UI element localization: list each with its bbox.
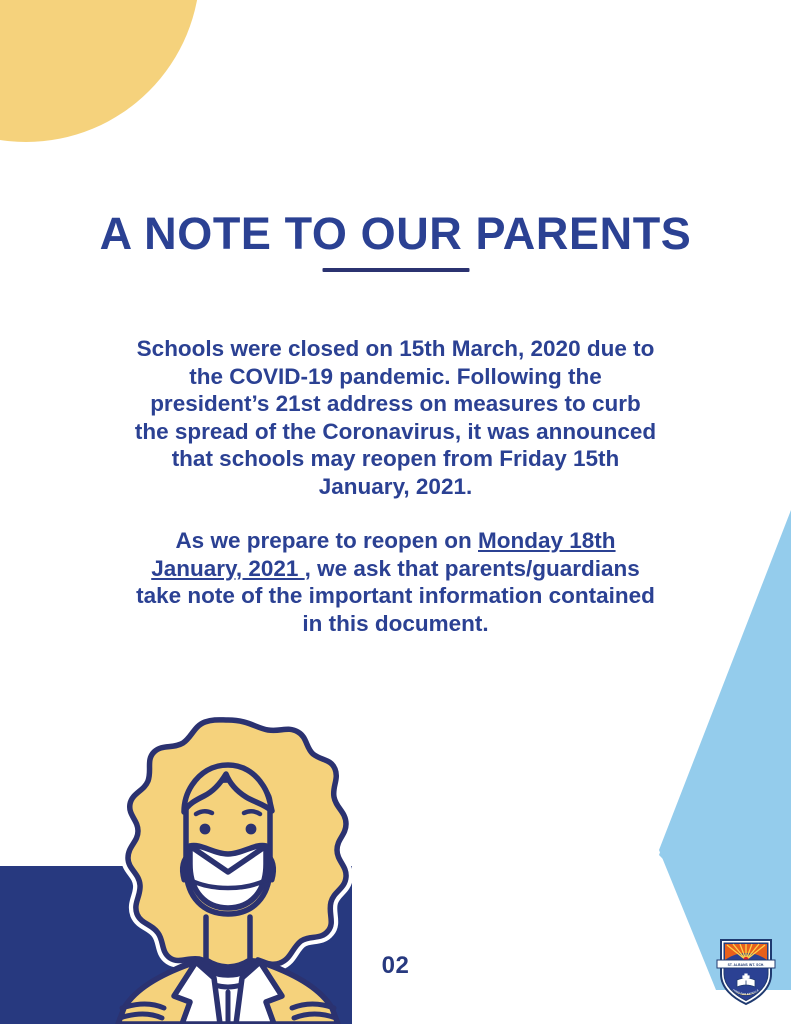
page-title: A NOTE TO OUR PARENTS: [0, 211, 791, 256]
title-divider: [322, 268, 469, 272]
paragraph-one: Schools were closed on 15th March, 2020 …: [133, 335, 658, 500]
yellow-circle-decoration: [0, 0, 200, 142]
body-copy: Schools were closed on 15th March, 2020 …: [133, 335, 658, 637]
parents-note-page: A NOTE TO OUR PARENTS Schools were close…: [0, 0, 791, 1024]
paragraph-two: As we prepare to reopen on Monday 18th J…: [133, 527, 658, 637]
school-crest-logo: ST. ALBANS INT. SCH. STRIVING FOR EXCELL…: [713, 934, 779, 1008]
paragraph-two-lead: As we prepare to reopen on: [175, 528, 478, 553]
logo-banner-text: ST. ALBANS INT. SCH.: [728, 963, 765, 967]
page-number: 02: [0, 952, 791, 980]
